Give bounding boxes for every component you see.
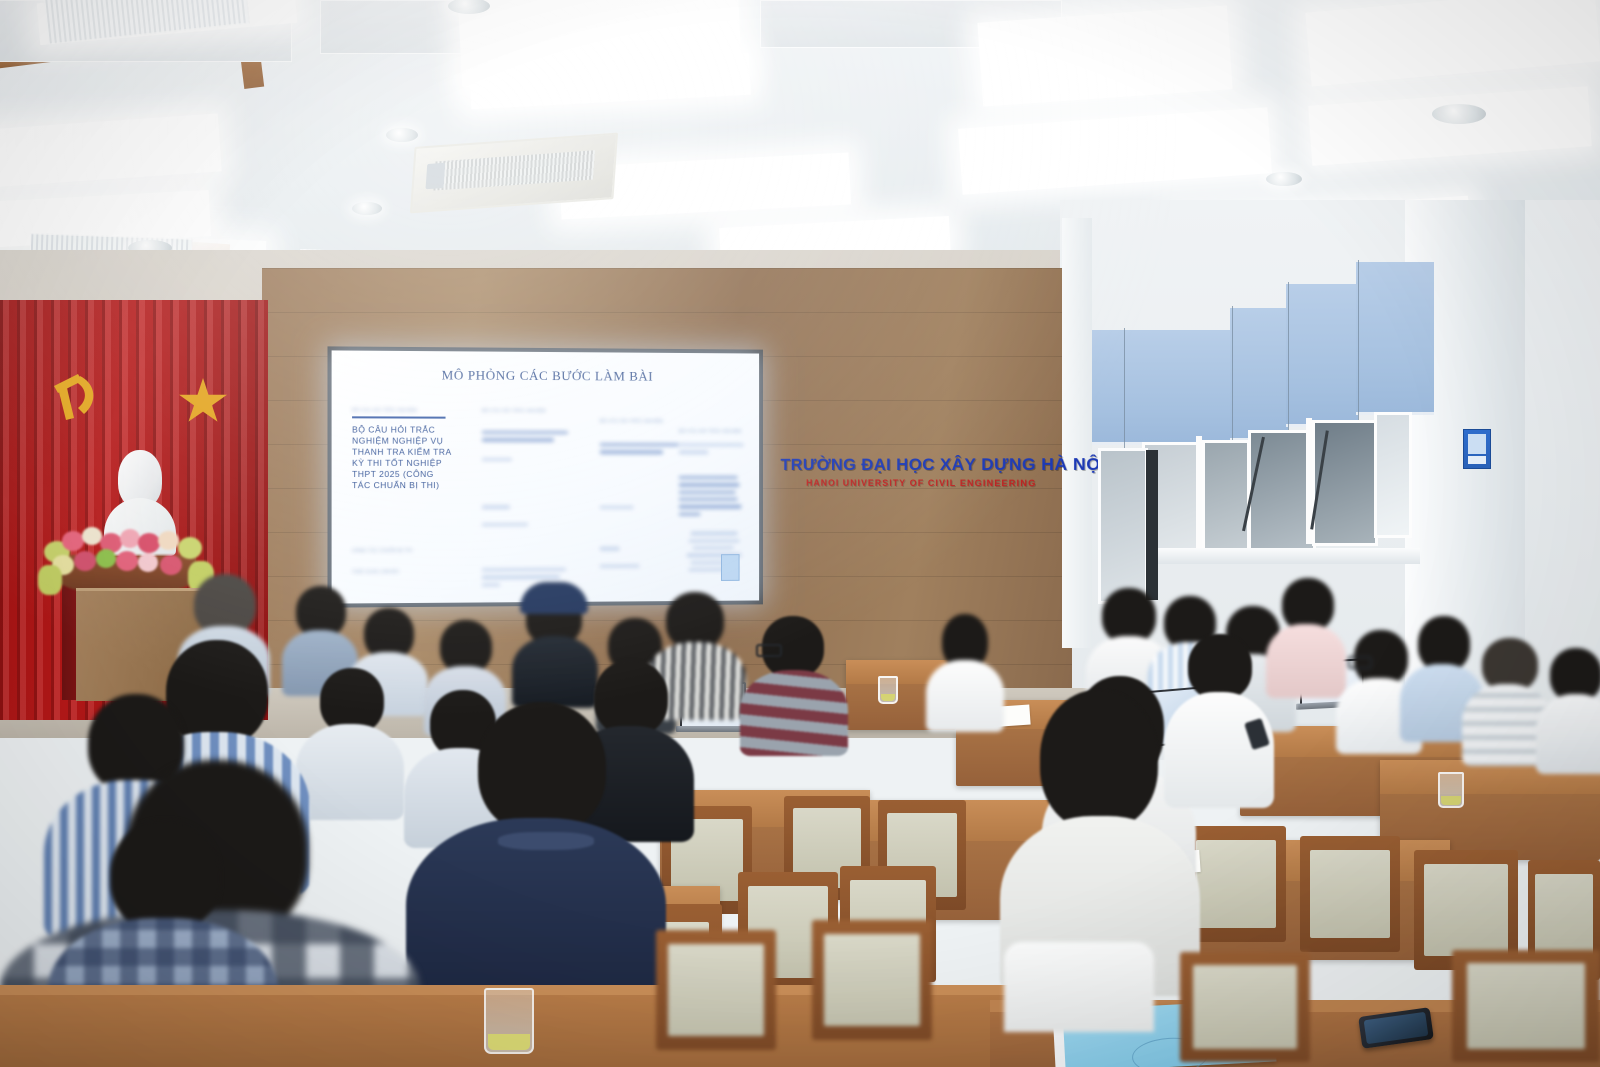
slide-highlight-box [721,554,740,581]
slide-title: MÔ PHỎNG CÁC BƯỚC LÀM BÀI [332,367,759,386]
slide-column-footer-1: CÔNG TÁC CHUẨN BỊ THI [352,547,452,552]
attendee [926,614,1004,728]
chair-cushion [1424,864,1507,955]
ac-sensor [426,163,446,189]
far-column [1062,218,1092,648]
slide-column-footer-2: THỜI GIAN LÀM BÀI [352,569,452,575]
slide-column-header: BỘ CÂU HỎI TRẮC NGHIỆM [352,407,452,412]
attendee [1004,942,1154,1032]
ceiling-panel-light [958,107,1272,194]
chair[interactable] [656,930,776,1050]
attendee-body [1266,624,1346,698]
glass-contents [488,1034,530,1050]
wall-sign-vietnamese: TRƯỜNG ĐẠI HỌC XÂY DỰNG HÀ NỘI [781,455,1065,476]
slide-column-1: BỘ CÂU HỎI TRẮC NGHIỆM BỘ CÂU HỎI TRẮC N… [352,407,452,578]
drinking-glass [1438,772,1464,808]
chair[interactable] [1186,826,1286,942]
attendee [1266,578,1346,694]
slide-column-header: BỘ CÂU HỎI TRẮC NGHIỆM [482,408,572,413]
chair-cushion [824,934,920,1025]
hammer-and-sickle-icon [44,368,106,426]
slide-column-header: BỘ CÂU HỎI TRẮC NGHIỆM [679,428,751,433]
slide-column-2: BỘ CÂU HỎI TRẮC NGHIỆM [482,408,572,604]
ceiling-panel-light [1308,86,1592,165]
ceiling-panel-light [0,113,222,188]
attendee [1536,648,1600,772]
attendee-body [740,670,848,756]
chair-cushion [1310,850,1390,938]
ceiling-downlight [1266,172,1302,186]
ceiling-panel-light [977,5,1232,106]
drinking-glass-foreground [484,988,534,1054]
slide-column-3: BỘ CÂU HỎI TRẮC NGHIỆM [600,418,689,571]
plate-label [1468,456,1486,464]
projection-screen: MÔ PHỎNG CÁC BƯỚC LÀM BÀI BỘ CÂU HỎI TRẮ… [332,350,759,603]
chair-cushion [1196,840,1276,928]
ac-grill [433,150,595,191]
chair-cushion [668,944,764,1035]
attendee [406,702,666,1002]
attendee-body [1536,694,1600,774]
roller-blind[interactable] [1092,330,1232,445]
attendee [740,616,848,752]
ceiling-panel-light [1305,0,1600,86]
attendee-head [1040,690,1158,830]
drinking-glass [878,676,898,704]
window-glass [1374,412,1412,538]
attendee-body [1004,942,1154,1032]
glass-door[interactable] [1098,448,1148,604]
window-glass [1202,440,1250,560]
chair[interactable] [812,920,932,1040]
wall-sign-english: HANOI UNIVERSITY OF CIVIL ENGINEERING [781,478,1065,489]
slide-column-header: BỘ CÂU HỎI TRẮC NGHIỆM [600,418,689,423]
window-glass [1312,420,1378,546]
ceiling-downlight [386,128,418,142]
window-mullion [1196,436,1202,558]
door-frame-dark [1146,450,1158,600]
window-sill [1130,548,1420,564]
attendee-body [926,660,1004,732]
slide-column-4: BỘ CÂU HỎI TRẮC NGHIỆM [679,428,751,575]
attendee-head [110,820,220,932]
roller-blind[interactable] [1286,284,1358,427]
eyeglasses-icon [1348,656,1372,669]
chair-cushion [1193,965,1297,1049]
chair[interactable] [1180,952,1310,1062]
blue-notice-plate [1463,429,1491,469]
glass-contents [1441,796,1461,805]
glass-contents [881,694,895,701]
chair[interactable] [1300,836,1400,952]
ceiling-downlight [352,202,382,215]
eyeglasses-icon [756,644,782,657]
roller-blind[interactable] [1230,308,1288,441]
roller-blind[interactable] [1356,262,1434,415]
collar [498,832,594,850]
slide-column-body: BỘ CÂU HỎI TRẮC NGHIỆM NGHIỆP VỤ THANH T… [352,424,452,491]
chair-cushion [1467,963,1585,1048]
conference-room-photo: MÔ PHỎNG CÁC BƯỚC LÀM BÀI BỘ CÂU HỎI TRẮ… [0,0,1600,1067]
slide-accent-rule [352,416,445,418]
attendee-head [478,702,606,834]
chair[interactable] [1452,950,1600,1062]
ceiling-downlight [1432,104,1486,124]
plate-graphic [1468,434,1486,454]
phone-screen [1364,1012,1429,1044]
baseball-cap-icon [520,582,588,614]
wall-sign: TRƯỜNG ĐẠI HỌC XÂY DỰNG HÀ NỘI HANOI UNI… [781,455,1065,489]
